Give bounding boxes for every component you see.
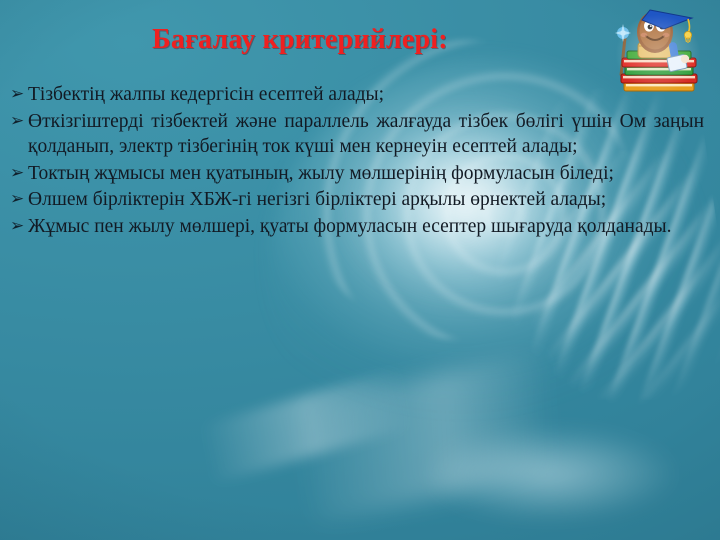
bullet-arrow-icon: ➢	[10, 214, 28, 239]
presentation-slide: Бағалау критерийлері:	[0, 0, 720, 540]
bullet-arrow-icon: ➢	[10, 109, 28, 134]
bullet-arrow-icon: ➢	[10, 187, 28, 212]
bullet-arrow-icon: ➢	[10, 161, 28, 186]
list-item: ➢ Өткізгіштерді тізбектей және параллель…	[10, 109, 704, 160]
list-item-text: Өлшем бірліктерін ХБЖ-гі негізгі бірлікт…	[28, 187, 704, 213]
list-item-text: Тізбектің жалпы кедергісін есептей алады…	[28, 82, 704, 108]
list-item: ➢ Тізбектің жалпы кедергісін есептей ала…	[10, 82, 704, 108]
list-item-text: Өткізгіштерді тізбектей және параллель ж…	[28, 109, 704, 160]
slide-title: Бағалау критерийлері:	[0, 24, 600, 56]
list-item: ➢ Токтың жұмысы мен қуатының, жылу мөлше…	[10, 161, 704, 187]
bullet-arrow-icon: ➢	[10, 82, 28, 107]
criteria-bullet-list: ➢ Тізбектің жалпы кедергісін есептей ала…	[10, 82, 704, 240]
list-item-text: Жұмыс пен жылу мөлшері, қуаты формуласын…	[28, 214, 704, 240]
list-item: ➢ Жұмыс пен жылу мөлшері, қуаты формулас…	[10, 214, 704, 240]
list-item-text: Токтың жұмысы мен қуатының, жылу мөлшері…	[28, 161, 704, 187]
list-item: ➢ Өлшем бірліктерін ХБЖ-гі негізгі бірлі…	[10, 187, 704, 213]
